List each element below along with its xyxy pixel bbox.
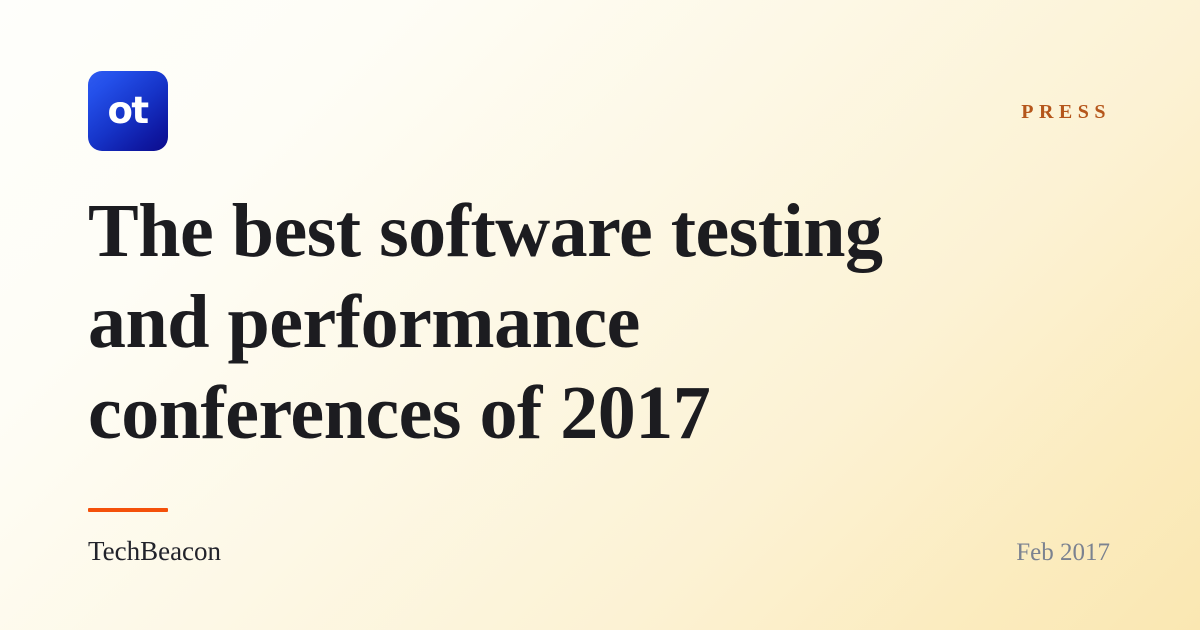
source-name: TechBeacon	[88, 538, 221, 565]
publication-date: Feb 2017	[1016, 540, 1112, 565]
ot-logo-icon[interactable]: ot	[88, 71, 168, 151]
page-title: The best software testing and performanc…	[88, 151, 1048, 459]
card-footer: TechBeacon Feb 2017	[88, 508, 1112, 630]
footer-meta-row: TechBeacon Feb 2017	[88, 538, 1112, 565]
headline-line-2: and performance	[88, 277, 1048, 368]
card-header: ot PRESS	[88, 71, 1112, 151]
press-card: ot PRESS The best software testing and p…	[0, 0, 1200, 630]
layout-spacer	[88, 459, 1112, 508]
accent-divider	[88, 508, 168, 512]
category-label: PRESS	[1021, 71, 1112, 122]
headline-line-3: conferences of 2017	[88, 368, 1048, 459]
headline-line-1: The best software testing	[88, 186, 1048, 277]
logo-wordmark: ot	[107, 92, 147, 129]
